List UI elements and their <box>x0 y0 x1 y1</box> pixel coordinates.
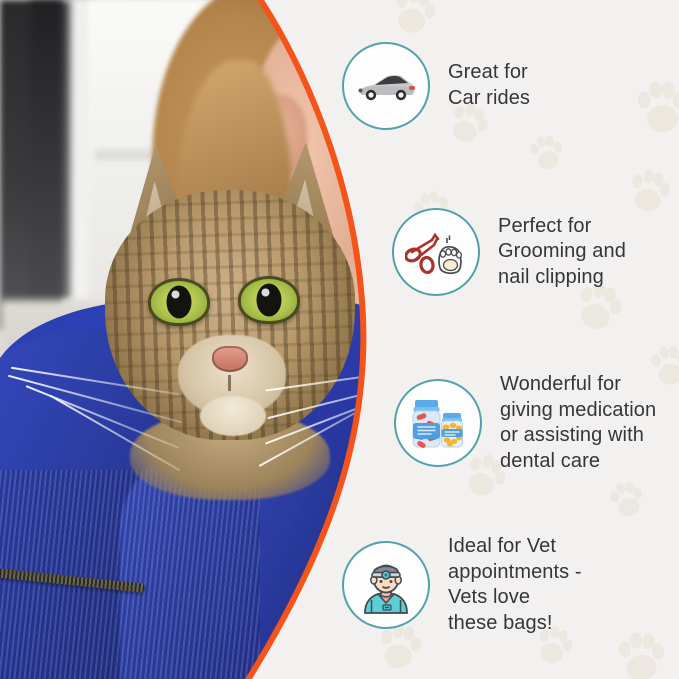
feature-label: Wonderful for giving medication or assis… <box>500 372 656 474</box>
tabby-cat <box>60 150 380 550</box>
car-icon <box>342 42 430 130</box>
feature-label: Great for Car rides <box>448 60 530 111</box>
cat-whiskers <box>60 320 380 490</box>
feature-medication: Wonderful for giving medication or assis… <box>394 372 656 474</box>
cat-eye-left <box>148 278 210 326</box>
veterinarian-icon <box>342 541 430 629</box>
feature-vet-appointments: Ideal for Vet appointments - Vets love t… <box>342 534 582 636</box>
feature-label: Ideal for Vet appointments - Vets love t… <box>448 534 582 636</box>
cat-eye-right <box>238 276 300 324</box>
product-infographic: Great for Car rides <box>0 0 679 679</box>
nail-clipper-paw-icon <box>392 208 480 296</box>
medicine-bottles-icon <box>394 379 482 467</box>
feature-grooming: Perfect for Grooming and nail clipping <box>392 208 626 296</box>
feature-label: Perfect for Grooming and nail clipping <box>498 214 626 291</box>
feature-car-rides: Great for Car rides <box>342 42 530 130</box>
